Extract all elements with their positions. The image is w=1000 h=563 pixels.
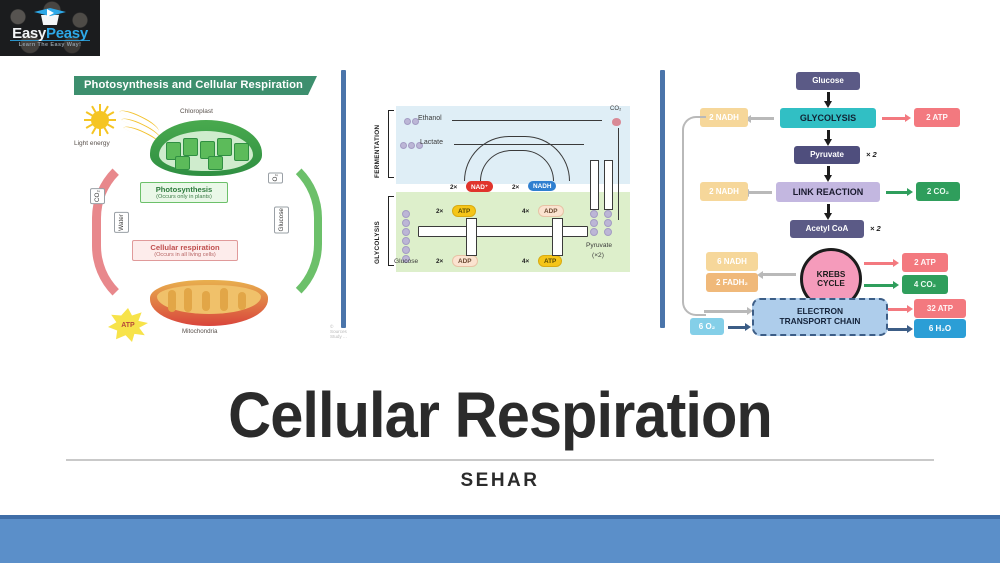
atp-down-arrow-left <box>466 218 477 256</box>
arrow-glycolysis-to-nadh <box>750 117 774 120</box>
ethanol-molecule-dots <box>404 118 419 125</box>
fermentation-section-label: FERMENTATION <box>374 112 381 178</box>
node-krebs-fadh2: 2 FADH₂ <box>706 273 758 292</box>
logo-word-peasy: Peasy <box>46 25 88 42</box>
glucose-label-glycolysis: Glucose <box>394 258 418 265</box>
acetyl-multiplier: × 2 <box>870 224 881 233</box>
node-oxygen-input: 6 O₂ <box>690 318 724 335</box>
node-glycolysis-atp: 2 ATP <box>914 108 960 127</box>
nad-pill: NAD⁺ <box>466 181 493 192</box>
arrow-link-to-nadh <box>748 191 772 194</box>
atp-out-pill: ATP <box>538 255 562 267</box>
arrow-etc-to-atp <box>888 308 908 311</box>
mitochondria-label: Mitochondria <box>182 328 217 335</box>
logo-tagline: Learn The Easy Way! <box>0 42 100 48</box>
bottom-accent-bar <box>0 515 1000 563</box>
nad-multiplier: 2× <box>450 184 457 191</box>
arrow-carriers-to-etc <box>704 310 748 313</box>
tag-o2: O₂ <box>268 172 283 183</box>
lactate-label: Lactate <box>420 139 443 146</box>
pyruvate-riser-b <box>604 160 613 210</box>
pyruvate-label: Pyruvate <box>586 242 612 249</box>
pyruvate-count-label: (×2) <box>592 252 604 259</box>
nadh-pill: NADH <box>528 181 556 191</box>
node-glycolysis: GLYCOLYSIS <box>780 108 876 128</box>
krebs-line-2: CYCLE <box>817 279 845 288</box>
node-glycolysis-nadh: 2 NADH <box>700 108 748 127</box>
pyruvate-riser-a <box>590 160 599 210</box>
node-link-co2: 2 CO₂ <box>916 182 960 201</box>
pyruvate-multiplier: × 2 <box>866 150 877 159</box>
sun-icon <box>84 104 116 136</box>
atp-label: ATP <box>121 322 134 329</box>
node-link-reaction: LINK REACTION <box>776 182 880 202</box>
tag-glucose: Glucose <box>274 206 289 233</box>
node-electron-transport-chain: ELECTRON TRANSPORT CHAIN <box>752 298 888 336</box>
slide-canvas: EasyPeasy Learn The Easy Way! Photosynth… <box>0 0 1000 563</box>
node-etc-atp: 32 ATP <box>914 299 966 318</box>
author-name: SEHAR <box>0 470 1000 492</box>
atp-down-arrow-right <box>552 218 563 256</box>
node-etc-water: 6 H₂O <box>914 319 966 338</box>
carrier-feedback-line <box>682 116 706 316</box>
arrow-pyruvate-to-link <box>827 166 830 176</box>
arrow-etc-to-water <box>888 328 908 331</box>
adp-in-multiplier: 4× <box>522 208 529 215</box>
light-energy-label: Light energy <box>74 140 110 147</box>
page-title: Cellular Respiration <box>35 378 965 452</box>
etc-line-2: TRANSPORT CHAIN <box>780 317 861 327</box>
arrow-krebs-to-carriers <box>762 273 796 276</box>
graduation-cap-play-icon <box>34 6 66 26</box>
arrow-krebs-to-atp <box>864 262 894 265</box>
logo-word-easy: Easy <box>12 25 46 42</box>
atp-in-multiplier: 2× <box>436 208 443 215</box>
chloroplast-label: Chloroplast <box>180 108 213 115</box>
glucose-molecule-dots <box>402 210 410 263</box>
arrow-glycolysis-to-pyruvate <box>827 130 830 140</box>
arrow-link-to-co2 <box>886 191 908 194</box>
node-glucose: Glucose <box>796 72 860 90</box>
divider-left <box>341 70 346 328</box>
title-divider <box>66 459 934 461</box>
krebs-line-1: KREBS <box>817 270 846 279</box>
ethanol-label: Ethanol <box>418 115 442 122</box>
node-krebs-nadh: 6 NADH <box>706 252 758 271</box>
arrow-glucose-to-glycolysis <box>827 92 830 102</box>
node-link-nadh: 2 NADH <box>700 182 748 201</box>
diagram-respiration-flowchart: Glucose GLYCOLYSIS 2 ATP 2 NADH Pyruvate… <box>686 70 986 336</box>
arrow-to-ethanol <box>452 120 602 121</box>
node-pyruvate: Pyruvate <box>794 146 860 164</box>
co2-label-fermentation: CO₂ <box>610 106 621 112</box>
arrow-link-to-acetyl <box>827 204 830 214</box>
arrow-krebs-to-co2 <box>864 284 894 287</box>
pyruvate-dots-b <box>604 210 612 236</box>
co2-bubble-icon <box>612 118 621 126</box>
diagram-fermentation-glycolysis: FERMENTATION GLYCOLYSIS Ethanol Lactate … <box>372 98 630 298</box>
adp-in-pill: ADP <box>538 205 564 217</box>
nadh-multiplier: 2× <box>512 184 519 191</box>
fermentation-bracket <box>388 110 394 178</box>
node-acetyl-coa: Acetyl CoA <box>790 220 864 238</box>
node-krebs-co2: 4 CO₂ <box>902 275 948 294</box>
divider-right <box>660 70 665 328</box>
tag-co2: CO₂ <box>90 188 105 204</box>
arrow-glycolysis-to-atp <box>882 117 906 120</box>
atp-out-multiplier: 4× <box>522 258 529 265</box>
atp-in-pill: ATP <box>452 205 476 217</box>
pyruvate-dots-a <box>590 210 598 236</box>
tag-water: Water <box>114 212 129 233</box>
arrow-o2-to-etc <box>728 326 746 329</box>
glycolysis-bracket <box>388 196 394 266</box>
co2-riser <box>618 128 619 220</box>
glycolysis-section-label: GLYCOLYSIS <box>374 198 381 264</box>
mitochondria-illustration <box>150 280 268 326</box>
adp-out-multiplier: 2× <box>436 258 443 265</box>
brand-logo: EasyPeasy Learn The Easy Way! <box>0 0 100 56</box>
node-krebs-atp: 2 ATP <box>902 253 948 272</box>
panel1-banner: Photosynthesis and Cellular Respiration <box>74 76 317 95</box>
panel1-credit: © Sources Study ... <box>330 324 347 339</box>
diagram-photosynthesis-respiration: Photosynthesis and Cellular Respiration … <box>62 72 324 334</box>
logo-wordmark: EasyPeasy <box>0 26 100 41</box>
adp-out-pill: ADP <box>452 255 478 267</box>
